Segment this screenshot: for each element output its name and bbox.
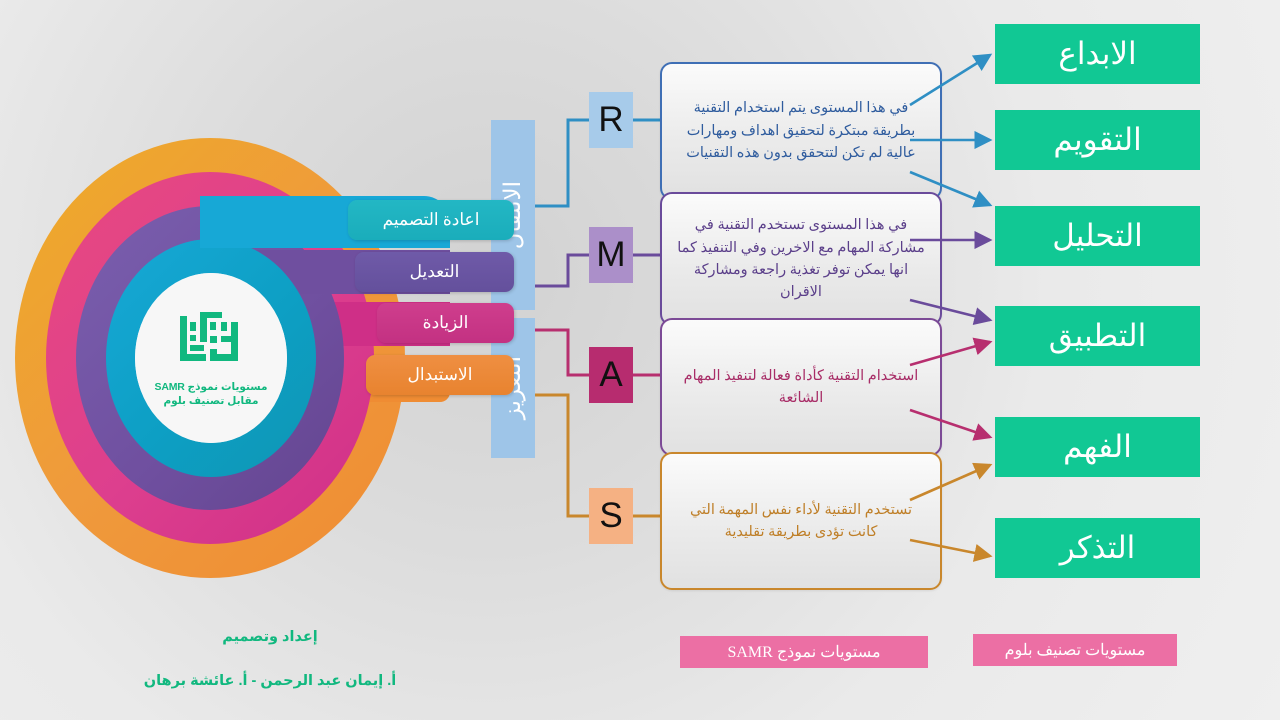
logo-caption-line1: مستويات نموذج SAMR [155,380,268,394]
bloom-label: التقويم [1053,122,1141,158]
samr-letter: R [598,100,623,140]
description-text: تستخدم التقنية لأداء نفس المهمة التي كان… [676,499,926,544]
samr-letter-tile-S[interactable]: S [589,488,633,544]
samr-pill-label: اعادة التصميم [383,210,480,230]
bloom-label: التذكر [1060,530,1136,566]
credits-title: إعداد وتصميم [160,629,380,645]
bloom-label: الفهم [1063,429,1132,465]
samr-pill-modification[interactable]: التعديل [355,252,514,292]
samr-pill-label: التعديل [410,262,460,282]
credits-names: أ. إيمان عبد الرحمن - أ. عائشة برهان [85,673,455,689]
samr-letter: S [599,496,622,536]
bloom-box-creating[interactable]: الابداع [995,24,1200,84]
bloom-box-applying[interactable]: التطبيق [995,306,1200,366]
bloom-label: التطبيق [1049,318,1146,354]
diagram-canvas: مستويات نموذج SAMR مقابل تصنيف بلوم اعاد… [0,0,1280,720]
description-card-augmentation: استخدام التقنية كأداة فعالة لتنفيذ المها… [660,318,942,456]
samr-pill-label: الزيادة [423,313,469,333]
description-card-redefinition: في هذا المستوى يتم استخدام التقنية بطريق… [660,62,942,200]
legend-samr: مستويات نموذج SAMR [680,636,928,668]
description-card-modification: في هذا المستوى تستخدم التقنية في مشاركة … [660,192,942,326]
samr-pill-label: الاستبدال [408,365,473,385]
center-logo: مستويات نموذج SAMR مقابل تصنيف بلوم [135,273,287,443]
samr-pill-substitution[interactable]: الاستبدال [366,355,514,395]
logo-caption-line2: مقابل تصنيف بلوم [155,394,268,408]
legend-bloom-label: مستويات تصنيف بلوم [1005,640,1146,660]
bloom-box-understanding[interactable]: الفهم [995,417,1200,477]
samr-letter: A [599,355,622,395]
bloom-label: التحليل [1052,218,1143,254]
wire-transition-to-M [535,255,589,286]
bloom-box-evaluating[interactable]: التقويم [995,110,1200,170]
samr-pill-augmentation[interactable]: الزيادة [377,303,514,343]
description-text: في هذا المستوى يتم استخدام التقنية بطريق… [676,97,926,164]
wire-enhancement-to-A [535,330,589,375]
samr-letter-tile-R[interactable]: R [589,92,633,148]
bloom-box-analyzing[interactable]: التحليل [995,206,1200,266]
arabic-calligraphy-logo-icon [174,308,248,374]
center-logo-caption: مستويات نموذج SAMR مقابل تصنيف بلوم [155,380,268,408]
description-card-substitution: تستخدم التقنية لأداء نفس المهمة التي كان… [660,452,942,590]
bloom-box-remembering[interactable]: التذكر [995,518,1200,578]
bloom-label: الابداع [1058,36,1136,72]
samr-pill-redefinition[interactable]: اعادة التصميم [348,200,514,240]
samr-letter-tile-M[interactable]: M [589,227,633,283]
wire-enhancement-to-S [535,395,589,516]
samr-letter: M [596,235,625,275]
legend-samr-label: مستويات نموذج SAMR [727,642,880,662]
description-text: استخدام التقنية كأداة فعالة لتنفيذ المها… [676,365,926,410]
legend-bloom: مستويات تصنيف بلوم [973,634,1177,666]
description-text: في هذا المستوى تستخدم التقنية في مشاركة … [676,214,926,304]
wire-transition-to-R [535,120,589,206]
samr-letter-tile-A[interactable]: A [589,347,633,403]
